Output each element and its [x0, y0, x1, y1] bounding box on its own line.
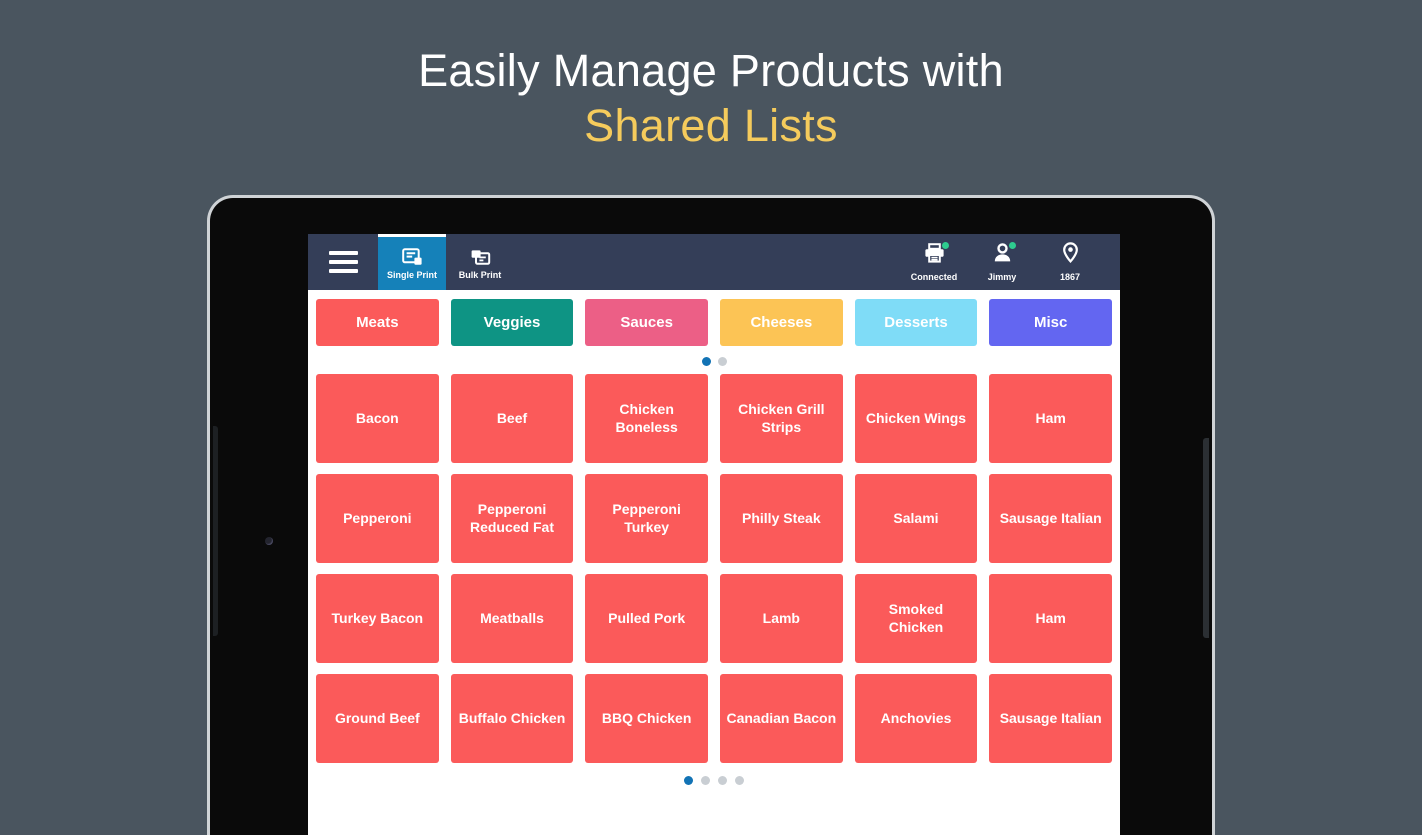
category-chip-label: Sauces — [620, 314, 673, 331]
printer-status-dot — [942, 242, 949, 249]
product-tile-label: Lamb — [763, 610, 800, 628]
product-tile[interactable]: Ham — [989, 374, 1112, 463]
category-chip[interactable]: Sauces — [585, 299, 708, 346]
tablet-left-button[interactable] — [213, 426, 218, 636]
status-printer-connected[interactable]: Connected — [900, 243, 968, 282]
product-tile[interactable]: Meatballs — [451, 574, 574, 663]
tablet-device: Single Print Bulk Print — [207, 195, 1215, 835]
headline-line-2: Shared Lists — [0, 97, 1422, 155]
pagination-dot[interactable] — [718, 357, 727, 366]
product-tile-label: Buffalo Chicken — [459, 710, 566, 728]
product-tile-label: Bacon — [356, 410, 399, 428]
product-tile-label: Ham — [1035, 410, 1065, 428]
page-headline: Easily Manage Products with Shared Lists — [0, 0, 1422, 155]
pagination-dot[interactable] — [701, 776, 710, 785]
product-tile[interactable]: Bacon — [316, 374, 439, 463]
product-tile[interactable]: Ground Beef — [316, 674, 439, 763]
product-tile-label: Philly Steak — [742, 510, 821, 528]
product-tile[interactable]: Turkey Bacon — [316, 574, 439, 663]
tablet-camera-icon — [265, 537, 273, 545]
category-chip-label: Misc — [1034, 314, 1067, 331]
product-tile-label: Anchovies — [881, 710, 952, 728]
product-list: BaconBeefChicken BonelessChicken Grill S… — [316, 374, 1112, 763]
product-tile[interactable]: Chicken Wings — [855, 374, 978, 463]
status-user-label: Jimmy — [988, 272, 1017, 282]
pagination-dot[interactable] — [718, 776, 727, 785]
category-chip[interactable]: Misc — [989, 299, 1112, 346]
product-tile[interactable]: Smoked Chicken — [855, 574, 978, 663]
product-tile-label: Ham — [1035, 610, 1065, 628]
status-location-label: 1867 — [1060, 272, 1080, 282]
product-tile-label: Pepperoni Reduced Fat — [457, 501, 568, 537]
pagination-dot[interactable] — [735, 776, 744, 785]
category-chip-label: Cheeses — [750, 314, 812, 331]
product-tile-label: Sausage Italian — [1000, 510, 1102, 528]
product-tile-label: Chicken Wings — [866, 410, 966, 428]
product-tile[interactable]: Philly Steak — [720, 474, 843, 563]
location-pin-icon — [1062, 242, 1079, 268]
status-location[interactable]: 1867 — [1036, 242, 1104, 282]
product-tile[interactable]: Ham — [989, 574, 1112, 663]
single-print-icon — [402, 248, 423, 267]
category-chip[interactable]: Cheeses — [720, 299, 843, 346]
tab-bulk-print[interactable]: Bulk Print — [446, 234, 514, 290]
category-chip-label: Desserts — [884, 314, 947, 331]
app-screen: Single Print Bulk Print — [308, 234, 1120, 835]
product-tile-label: Pepperoni Turkey — [591, 501, 702, 537]
pagination-dot[interactable] — [684, 776, 693, 785]
product-tile[interactable]: Chicken Grill Strips — [720, 374, 843, 463]
category-chip[interactable]: Desserts — [855, 299, 978, 346]
product-tile[interactable]: Buffalo Chicken — [451, 674, 574, 763]
product-tile-label: Pepperoni — [343, 510, 411, 528]
product-tile[interactable]: Pulled Pork — [585, 574, 708, 663]
tablet-frame: Single Print Bulk Print — [207, 195, 1215, 835]
product-tile[interactable]: Canadian Bacon — [720, 674, 843, 763]
product-tile[interactable]: Chicken Boneless — [585, 374, 708, 463]
product-tile-label: Beef — [497, 410, 527, 428]
product-tile-label: Meatballs — [480, 610, 544, 628]
category-chip[interactable]: Veggies — [451, 299, 574, 346]
product-tile-label: Turkey Bacon — [332, 610, 424, 628]
hamburger-menu-icon[interactable] — [308, 234, 378, 290]
category-pagination — [316, 346, 1112, 374]
product-pagination — [316, 763, 1112, 795]
topbar-status-group: Connected Jimmy — [900, 234, 1120, 290]
product-tile-label: Chicken Boneless — [591, 401, 702, 437]
category-chip[interactable]: Meats — [316, 299, 439, 346]
topbar-spacer — [514, 234, 900, 290]
product-tile[interactable]: Lamb — [720, 574, 843, 663]
category-chip-label: Meats — [356, 314, 399, 331]
product-tile[interactable]: Anchovies — [855, 674, 978, 763]
tab-bulk-print-label: Bulk Print — [459, 270, 502, 280]
product-tile-label: BBQ Chicken — [602, 710, 691, 728]
product-tile[interactable]: Beef — [451, 374, 574, 463]
user-icon — [993, 243, 1012, 268]
bulk-print-icon — [469, 248, 491, 267]
category-chip-label: Veggies — [484, 314, 541, 331]
product-tile-label: Sausage Italian — [1000, 710, 1102, 728]
status-user[interactable]: Jimmy — [968, 243, 1036, 282]
pagination-dot[interactable] — [702, 357, 711, 366]
product-tile[interactable]: BBQ Chicken — [585, 674, 708, 763]
tablet-right-button[interactable] — [1203, 438, 1209, 638]
category-list: MeatsVeggiesSaucesCheesesDessertsMisc — [316, 299, 1112, 346]
product-tile[interactable]: Pepperoni Reduced Fat — [451, 474, 574, 563]
product-tile[interactable]: Sausage Italian — [989, 674, 1112, 763]
tab-single-print[interactable]: Single Print — [378, 234, 446, 290]
product-tile-label: Chicken Grill Strips — [726, 401, 837, 437]
category-section: MeatsVeggiesSaucesCheesesDessertsMisc — [308, 290, 1120, 374]
product-tile-label: Pulled Pork — [608, 610, 685, 628]
product-tile-label: Smoked Chicken — [861, 601, 972, 637]
product-tile-label: Salami — [893, 510, 938, 528]
printer-icon — [924, 243, 945, 268]
product-tile[interactable]: Sausage Italian — [989, 474, 1112, 563]
headline-line-1: Easily Manage Products with — [0, 44, 1422, 97]
product-tile-label: Ground Beef — [335, 710, 420, 728]
product-tile-label: Canadian Bacon — [726, 710, 836, 728]
app-topbar: Single Print Bulk Print — [308, 234, 1120, 290]
product-section: BaconBeefChicken BonelessChicken Grill S… — [308, 374, 1120, 835]
user-status-dot — [1009, 242, 1016, 249]
product-tile[interactable]: Salami — [855, 474, 978, 563]
status-printer-label: Connected — [911, 272, 958, 282]
product-tile[interactable]: Pepperoni — [316, 474, 439, 563]
tab-single-print-label: Single Print — [387, 270, 437, 280]
product-tile[interactable]: Pepperoni Turkey — [585, 474, 708, 563]
